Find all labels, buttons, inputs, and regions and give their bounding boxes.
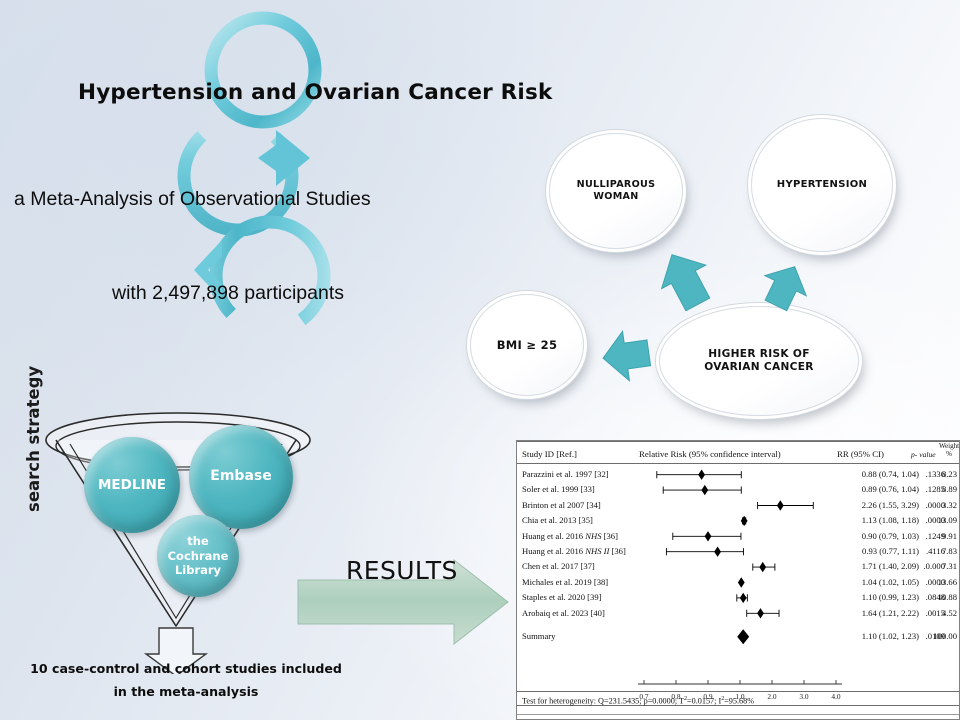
- forest-rr-value: 1.64 (1.21, 2.22): [833, 606, 919, 621]
- forest-rr-value: 0.93 (0.77, 1.11): [833, 544, 919, 559]
- forest-header-plot: Relative Risk (95% confidence interval): [639, 449, 781, 459]
- forest-weight-value: 3.32: [913, 498, 957, 513]
- forest-table-row: Arobaiq et al. 2023 [40]1.64 (1.21, 2.22…: [517, 606, 959, 621]
- forest-study-label: Summary: [522, 629, 555, 644]
- forest-rr-value: 1.10 (0.99, 1.23): [833, 590, 919, 605]
- forest-study-label: Arobaiq et al. 2023 [40]: [522, 606, 605, 621]
- forest-study-label: Soler et al. 1999 [33]: [522, 482, 595, 497]
- forest-weight-value: 4.52: [913, 606, 957, 621]
- forest-rr-value: 0.89 (0.76, 1.04): [833, 482, 919, 497]
- slide-canvas: Hypertension and Ovarian Cancer Risk a M…: [0, 0, 960, 720]
- forest-study-label: Huang et al. 2016 NHS II [36]: [522, 544, 626, 559]
- oval-nulliparous-label: NULLIPAROUSWOMAN: [577, 179, 656, 202]
- search-strategy-label: search strategy: [24, 392, 43, 512]
- page-title: Hypertension and Ovarian Cancer Risk: [78, 80, 552, 105]
- oval-higher-risk-label: HIGHER RISK OFOVARIAN CANCER: [704, 348, 813, 374]
- forest-rr-value: 1.04 (1.02, 1.05): [833, 575, 919, 590]
- forest-weight-value: 8.23: [913, 467, 957, 482]
- forest-rr-value: 1.13 (1.08, 1.18): [833, 513, 919, 528]
- oval-bmi-label: BMI ≥ 25: [497, 338, 558, 352]
- forest-header-weight: Weight%: [937, 443, 960, 458]
- forest-table-row: Soler et al. 1999 [33]0.89 (0.76, 1.04).…: [517, 482, 959, 497]
- forest-study-label: Michales et al. 2019 [38]: [522, 575, 608, 590]
- forest-rr-value: 2.26 (1.55, 3.29): [833, 498, 919, 513]
- forest-rr-value: 1.71 (1.40, 2.09): [833, 559, 919, 574]
- forest-header-study: Study ID [Ref.]: [522, 449, 577, 459]
- forest-table-row: Chia et al. 2013 [35]1.13 (1.08, 1.18).0…: [517, 513, 959, 528]
- forest-rr-value: 0.90 (0.79, 1.03): [833, 529, 919, 544]
- oval-nulliparous-woman: NULLIPAROUSWOMAN: [549, 133, 683, 249]
- arrow-up-right-icon: [758, 262, 814, 312]
- oval-bmi: BMI ≥ 25: [470, 294, 584, 396]
- database-cochrane-library: theCochraneLibrary: [157, 515, 239, 597]
- forest-study-label: Parazzini et al. 1997 [32]: [522, 467, 609, 482]
- forest-table-row: Michales et al. 2019 [38]1.04 (1.02, 1.0…: [517, 575, 959, 590]
- database-medline: MEDLINE: [84, 437, 180, 533]
- forest-weight-value: 13.66: [913, 575, 957, 590]
- participants-text: with 2,497,898 participants: [112, 282, 344, 305]
- forest-rr-value: 0.88 (0.74, 1.04): [833, 467, 919, 482]
- oval-higher-risk-ovarian-cancer: HIGHER RISK OFOVARIAN CANCER: [659, 306, 859, 416]
- forest-table-row: Brinton et al 2007 [34]2.26 (1.55, 3.29)…: [517, 498, 959, 513]
- forest-weight-value: 10.88: [913, 590, 957, 605]
- forest-study-label: Staples et al. 2020 [39]: [522, 590, 601, 605]
- forest-weight-value: 13.09: [913, 513, 957, 528]
- forest-study-label: Huang et al. 2016 NHS [36]: [522, 529, 618, 544]
- forest-study-label: Brinton et al 2007 [34]: [522, 498, 601, 513]
- forest-table-row: Huang et al. 2016 NHS II [36]0.93 (0.77,…: [517, 544, 959, 559]
- forest-weight-value: 7.31: [913, 559, 957, 574]
- database-cochrane-label: theCochraneLibrary: [168, 534, 229, 577]
- forest-table-row: Chen et al. 2017 [37]1.71 (1.40, 2.09).0…: [517, 559, 959, 574]
- forest-study-label: Chia et al. 2013 [35]: [522, 513, 593, 528]
- database-medline-label: MEDLINE: [98, 477, 166, 494]
- forest-table-row: Huang et al. 2016 NHS [36]0.90 (0.79, 1.…: [517, 529, 959, 544]
- forest-plot-panel: Study ID [Ref.] Relative Risk (95% confi…: [516, 440, 960, 720]
- subtitle: a Meta-Analysis of Observational Studies: [14, 188, 371, 211]
- studies-included-note: 10 case-control and cohort studies inclu…: [16, 657, 356, 704]
- forest-rr-value: 1.10 (1.02, 1.23): [833, 629, 919, 644]
- studies-included-line2: in the meta-analysis: [114, 684, 259, 699]
- forest-table-row: Staples et al. 2020 [39]1.10 (0.99, 1.23…: [517, 590, 959, 605]
- forest-bottom-rule: [517, 714, 959, 715]
- forest-summary-row: Summary1.10 (1.02, 1.23).0109100.00: [517, 629, 959, 644]
- forest-weight-value: 7.83: [913, 544, 957, 559]
- database-embase: Embase: [189, 425, 293, 529]
- forest-header-pvalue: p- value: [911, 450, 936, 459]
- arrow-left-icon: [600, 325, 652, 387]
- forest-study-label: Chen et al. 2017 [37]: [522, 559, 595, 574]
- studies-included-line1: 10 case-control and cohort studies inclu…: [30, 661, 342, 676]
- oval-hypertension: HYPERTENSION: [751, 118, 893, 252]
- forest-weight-value: 8.89: [913, 482, 957, 497]
- database-embase-label: Embase: [210, 468, 271, 486]
- forest-weight-value: 100.00: [913, 629, 957, 644]
- forest-table-row: Parazzini et al. 1997 [32]0.88 (0.74, 1.…: [517, 467, 959, 482]
- results-label: RESULTS: [346, 556, 458, 585]
- forest-weight-value: 9.91: [913, 529, 957, 544]
- arrow-up-left-icon: [658, 249, 714, 311]
- forest-header-rr: RR (95% CI): [837, 449, 884, 459]
- heterogeneity-test: Test for heterogeneity: Q=231.5435; p=0.…: [517, 691, 959, 706]
- oval-hypertension-label: HYPERTENSION: [777, 179, 867, 191]
